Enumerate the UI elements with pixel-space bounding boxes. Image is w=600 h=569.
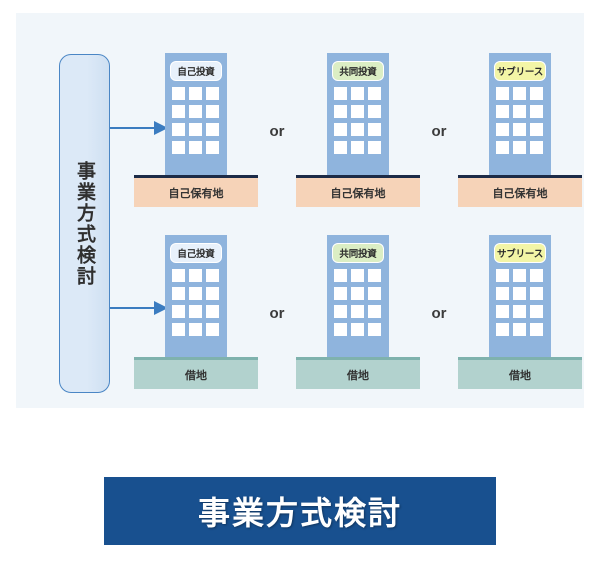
option-row-leased: 自己投資借地or共同投資借地orサブリース借地 xyxy=(134,235,586,395)
building-window xyxy=(351,141,364,154)
building-window-grid xyxy=(334,87,382,154)
building-window xyxy=(496,287,509,300)
building-window xyxy=(334,269,347,282)
option-cell[interactable]: サブリース借地 xyxy=(458,235,582,395)
building-window xyxy=(334,105,347,118)
building-window xyxy=(189,105,202,118)
ground-plate: 借地 xyxy=(458,357,582,389)
building-window xyxy=(334,141,347,154)
building-window xyxy=(351,269,364,282)
building-window xyxy=(496,123,509,136)
building-window xyxy=(513,87,526,100)
building-window xyxy=(530,305,543,318)
option-cell[interactable]: 自己投資自己保有地 xyxy=(134,53,258,213)
option-cell[interactable]: 共同投資自己保有地 xyxy=(296,53,420,213)
building-icon: 共同投資 xyxy=(327,235,389,357)
or-separator: or xyxy=(420,123,458,140)
building-window-grid xyxy=(334,269,382,336)
building-window xyxy=(172,305,185,318)
ground-plate: 借地 xyxy=(296,357,420,389)
building-window xyxy=(206,105,219,118)
building-icon: 共同投資 xyxy=(327,53,389,175)
building-icon: サブリース xyxy=(489,235,551,357)
building-window xyxy=(189,269,202,282)
building-window xyxy=(496,305,509,318)
building-icon: 自己投資 xyxy=(165,235,227,357)
building-window xyxy=(368,269,381,282)
building-window-grid xyxy=(172,269,220,336)
building-window xyxy=(496,269,509,282)
or-separator: or xyxy=(420,305,458,322)
building-window xyxy=(368,305,381,318)
building-window xyxy=(496,323,509,336)
bottom-banner: 事業方式検討 xyxy=(104,477,496,545)
building-window xyxy=(530,123,543,136)
building-window xyxy=(368,141,381,154)
building-window xyxy=(513,105,526,118)
building-window xyxy=(334,87,347,100)
building-window xyxy=(172,269,185,282)
diagram-panel: 事業方式検討 自己投資自己保有地or共同投資自己保有地orサブリース自己保有地 … xyxy=(16,13,584,408)
building-window xyxy=(496,87,509,100)
building-window xyxy=(172,141,185,154)
option-cell[interactable]: 共同投資借地 xyxy=(296,235,420,395)
option-row-owned: 自己投資自己保有地or共同投資自己保有地orサブリース自己保有地 xyxy=(134,53,586,213)
building-window xyxy=(206,323,219,336)
building-window xyxy=(206,87,219,100)
building-window xyxy=(189,123,202,136)
building-window xyxy=(513,323,526,336)
bottom-banner-title: 事業方式検討 xyxy=(198,488,402,534)
building-window xyxy=(368,323,381,336)
building-window xyxy=(206,305,219,318)
building-window xyxy=(351,105,364,118)
building-window xyxy=(368,105,381,118)
building-window xyxy=(172,123,185,136)
building-window xyxy=(351,305,364,318)
building-label: 自己投資 xyxy=(170,243,222,263)
building-window xyxy=(334,123,347,136)
building-window xyxy=(189,323,202,336)
building-window xyxy=(172,287,185,300)
ground-plate: 借地 xyxy=(134,357,258,389)
building-window xyxy=(206,287,219,300)
building-window xyxy=(189,87,202,100)
building-window xyxy=(172,323,185,336)
building-window xyxy=(496,105,509,118)
building-window-grid xyxy=(496,269,544,336)
building-window xyxy=(368,287,381,300)
entry-label-text: 事業方式検討 xyxy=(60,55,109,392)
building-window xyxy=(513,269,526,282)
ground-plate: 自己保有地 xyxy=(458,175,582,207)
entry-label-box: 事業方式検討 xyxy=(59,54,110,393)
building-window xyxy=(368,123,381,136)
building-window xyxy=(334,323,347,336)
building-window xyxy=(334,305,347,318)
building-window xyxy=(189,287,202,300)
building-icon: サブリース xyxy=(489,53,551,175)
building-label: 共同投資 xyxy=(332,243,384,263)
building-window xyxy=(189,305,202,318)
building-window xyxy=(530,287,543,300)
building-window xyxy=(351,123,364,136)
building-window xyxy=(530,323,543,336)
building-icon: 自己投資 xyxy=(165,53,227,175)
building-label: サブリース xyxy=(494,61,546,81)
ground-plate: 自己保有地 xyxy=(134,175,258,207)
building-window xyxy=(206,123,219,136)
building-window xyxy=(530,141,543,154)
building-window xyxy=(351,287,364,300)
building-window xyxy=(206,269,219,282)
building-window xyxy=(530,269,543,282)
building-window xyxy=(513,305,526,318)
building-window xyxy=(530,87,543,100)
building-window xyxy=(368,87,381,100)
or-separator: or xyxy=(258,123,296,140)
option-cell[interactable]: 自己投資借地 xyxy=(134,235,258,395)
building-window xyxy=(351,87,364,100)
building-window-grid xyxy=(496,87,544,154)
building-label: 自己投資 xyxy=(170,61,222,81)
building-window xyxy=(496,141,509,154)
building-window xyxy=(513,287,526,300)
building-window xyxy=(513,123,526,136)
building-window xyxy=(189,141,202,154)
building-window xyxy=(513,141,526,154)
building-window xyxy=(351,323,364,336)
building-window xyxy=(172,105,185,118)
building-window xyxy=(334,287,347,300)
building-window-grid xyxy=(172,87,220,154)
building-window xyxy=(530,105,543,118)
option-cell[interactable]: サブリース自己保有地 xyxy=(458,53,582,213)
building-label: 共同投資 xyxy=(332,61,384,81)
building-window xyxy=(206,141,219,154)
building-window xyxy=(172,87,185,100)
ground-plate: 自己保有地 xyxy=(296,175,420,207)
building-label: サブリース xyxy=(494,243,546,263)
or-separator: or xyxy=(258,305,296,322)
